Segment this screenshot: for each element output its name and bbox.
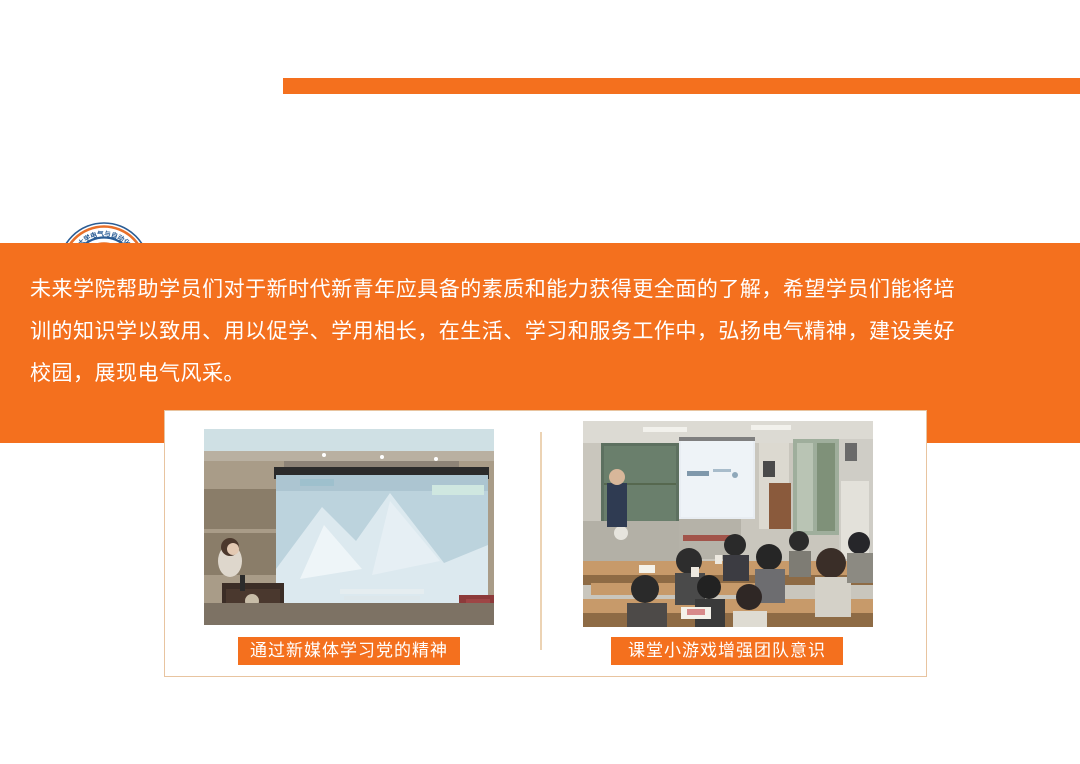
- caption-photo-lecture-hall: 通过新媒体学习党的精神: [238, 637, 460, 665]
- photo-classroom: [583, 421, 873, 627]
- body-paragraph: 未来学院帮助学员们对于新时代新青年应具备的素质和能力获得更全面的了解，希望学员们…: [30, 268, 955, 394]
- caption-photo-classroom: 课堂小游戏增强团队意识: [611, 637, 843, 665]
- photo-lecture-hall: [204, 429, 494, 625]
- photo-divider: [540, 432, 542, 650]
- slide-canvas: 武汉大学电气与自动化学院 SCHOOL OF ELECTRICAL ENGINE…: [0, 0, 1080, 764]
- slide-header: 武汉大学电气与自动化学院 SCHOOL OF ELECTRICAL ENGINE…: [0, 110, 1080, 230]
- top-accent-bar: [283, 78, 1080, 94]
